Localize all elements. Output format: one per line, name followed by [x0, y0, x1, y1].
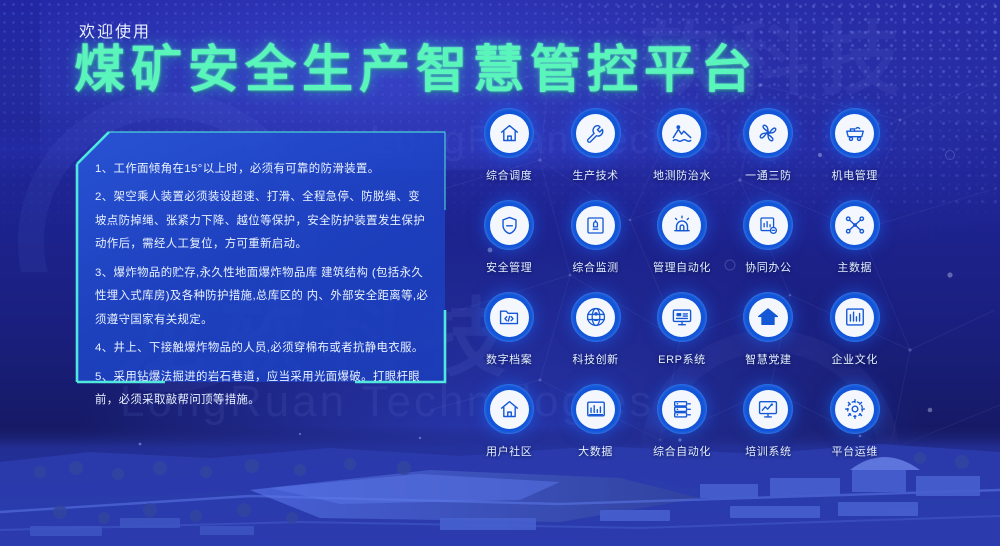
module-label: 机电管理 — [832, 167, 878, 183]
innovation-globe-icon — [576, 298, 615, 337]
node-network-icon — [835, 206, 874, 245]
gear-icon — [835, 390, 874, 429]
module-badge — [657, 108, 707, 158]
module-label: 一通三防 — [745, 167, 791, 183]
module-tile-shuzidangan[interactable]: 数字档案 — [466, 292, 552, 367]
module-tile-peixunxitong[interactable]: 培训系统 — [725, 384, 811, 459]
module-tile-yitongsanfang[interactable]: 一通三防 — [725, 108, 811, 183]
module-tile-zonghejiance[interactable]: 综合监测 — [552, 200, 638, 275]
module-label: 安全管理 — [486, 259, 532, 275]
house-roof-icon — [749, 298, 788, 337]
module-label: 协同办公 — [745, 259, 791, 275]
module-grid-row: 用户社区 大数据 综合自动化 培训系统 — [466, 384, 898, 459]
home-icon — [490, 390, 529, 429]
module-tile-yonghushequ[interactable]: 用户社区 — [466, 384, 552, 459]
document-chart-icon — [749, 206, 788, 245]
module-label: 平台运维 — [832, 443, 878, 459]
module-label: 智慧党建 — [745, 351, 791, 367]
module-badge — [830, 200, 880, 250]
module-tile-qiyewenhua[interactable]: 企业文化 — [812, 292, 898, 367]
module-badge — [830, 292, 880, 342]
app-root: 软科技 LongRuan Technolog 龙软科技 LongRuan Tec… — [0, 0, 1000, 546]
module-badge — [571, 384, 621, 434]
desktop-icon — [662, 298, 701, 337]
home-icon — [490, 114, 529, 153]
module-grid-row: 安全管理 综合监测 管理自动化 协同办公 — [466, 200, 898, 275]
safety-rules-list: 1、工作面倾角在15°以上时，必须有可靠的防滑装置。 2、架空乘人装置必须装设超… — [95, 158, 429, 368]
module-badge — [830, 108, 880, 158]
alarm-dome-icon — [662, 206, 701, 245]
mine-cart-icon — [835, 114, 874, 153]
module-label: 生产技术 — [572, 167, 618, 183]
module-badge — [571, 200, 621, 250]
module-tile-anquanguanli[interactable]: 安全管理 — [466, 200, 552, 275]
module-tile-dashuju[interactable]: 大数据 — [552, 384, 638, 459]
safety-rule-item: 3、爆炸物品的贮存,永久性地面爆炸物品库 建筑结构 (包括永久性埋入式库房)及各… — [95, 262, 429, 332]
monitor-sensor-icon — [576, 206, 615, 245]
screen-graph-icon — [749, 390, 788, 429]
module-tile-guanlizidonghua[interactable]: 管理自动化 — [639, 200, 725, 275]
page-title: 煤矿安全生产智慧管控平台 — [74, 44, 758, 95]
module-badge — [743, 108, 793, 158]
wrench-icon — [576, 114, 615, 153]
code-folder-icon — [490, 298, 529, 337]
module-label: 科技创新 — [572, 351, 618, 367]
module-badge — [743, 292, 793, 342]
server-stack-icon — [662, 390, 701, 429]
chart-board-icon — [576, 390, 615, 429]
module-badge — [484, 200, 534, 250]
module-tile-zhihuidangjian[interactable]: 智慧党建 — [725, 292, 811, 367]
module-grid-row: 综合调度 生产技术 地测防治水 一通三防 — [466, 108, 898, 183]
module-tile-jidianguanli[interactable]: 机电管理 — [812, 108, 898, 183]
module-badge — [743, 384, 793, 434]
bar-chart-icon — [835, 298, 874, 337]
module-grid: 综合调度 生产技术 地测防治水 一通三防 — [466, 108, 898, 476]
module-label: 数字档案 — [486, 351, 532, 367]
module-tile-dicefangzhishui[interactable]: 地测防治水 — [639, 108, 725, 183]
module-label: 企业文化 — [832, 351, 878, 367]
safety-rule-item: 1、工作面倾角在15°以上时，必须有可靠的防滑装置。 — [95, 158, 429, 181]
module-badge — [657, 292, 707, 342]
module-label: 管理自动化 — [653, 259, 711, 275]
module-tile-erp[interactable]: ERP系统 — [639, 292, 725, 367]
welcome-text: 欢迎使用 — [79, 18, 151, 42]
module-label: ERP系统 — [658, 351, 706, 367]
module-badge — [743, 200, 793, 250]
module-label: 主数据 — [837, 259, 872, 275]
safety-rule-item: 4、井上、下接触爆炸物品的人员,必须穿棉布或者抗静电衣服。 — [95, 337, 429, 360]
module-tile-zhushuju[interactable]: 主数据 — [812, 200, 898, 275]
module-badge — [484, 384, 534, 434]
module-badge — [571, 108, 621, 158]
mountain-water-icon — [662, 114, 701, 153]
module-tile-pingtaiyunwei[interactable]: 平台运维 — [812, 384, 898, 459]
safety-rule-item: 2、架空乘人装置必须装设超速、打滑、全程急停、防脱绳、变坡点防掉绳、张紧力下降、… — [95, 186, 429, 256]
module-grid-row: 数字档案 科技创新 ERP系统 智慧党建 — [466, 292, 898, 367]
module-label: 综合监测 — [572, 259, 618, 275]
safety-rule-item: 5、采用钻爆法掘进的岩石巷道，应当采用光面爆破。打眼杆眼前，必须采取敲帮问顶等措… — [95, 366, 429, 413]
module-label: 综合自动化 — [653, 443, 711, 459]
module-label: 综合调度 — [486, 167, 532, 183]
shield-icon — [490, 206, 529, 245]
module-badge — [657, 200, 707, 250]
module-tile-kejichuangxin[interactable]: 科技创新 — [552, 292, 638, 367]
module-tile-shengchanjishu[interactable]: 生产技术 — [552, 108, 638, 183]
module-badge — [830, 384, 880, 434]
module-tile-zonghezidonghua[interactable]: 综合自动化 — [639, 384, 725, 459]
module-label: 地测防治水 — [653, 167, 711, 183]
module-badge — [657, 384, 707, 434]
module-label: 大数据 — [578, 443, 613, 459]
module-tile-xietongbangong[interactable]: 协同办公 — [725, 200, 811, 275]
module-tile-zonghediaodu[interactable]: 综合调度 — [466, 108, 552, 183]
module-badge — [484, 108, 534, 158]
module-badge — [571, 292, 621, 342]
module-badge — [484, 292, 534, 342]
ventilation-fan-icon — [749, 114, 788, 153]
module-label: 培训系统 — [745, 443, 791, 459]
module-label: 用户社区 — [486, 443, 532, 459]
